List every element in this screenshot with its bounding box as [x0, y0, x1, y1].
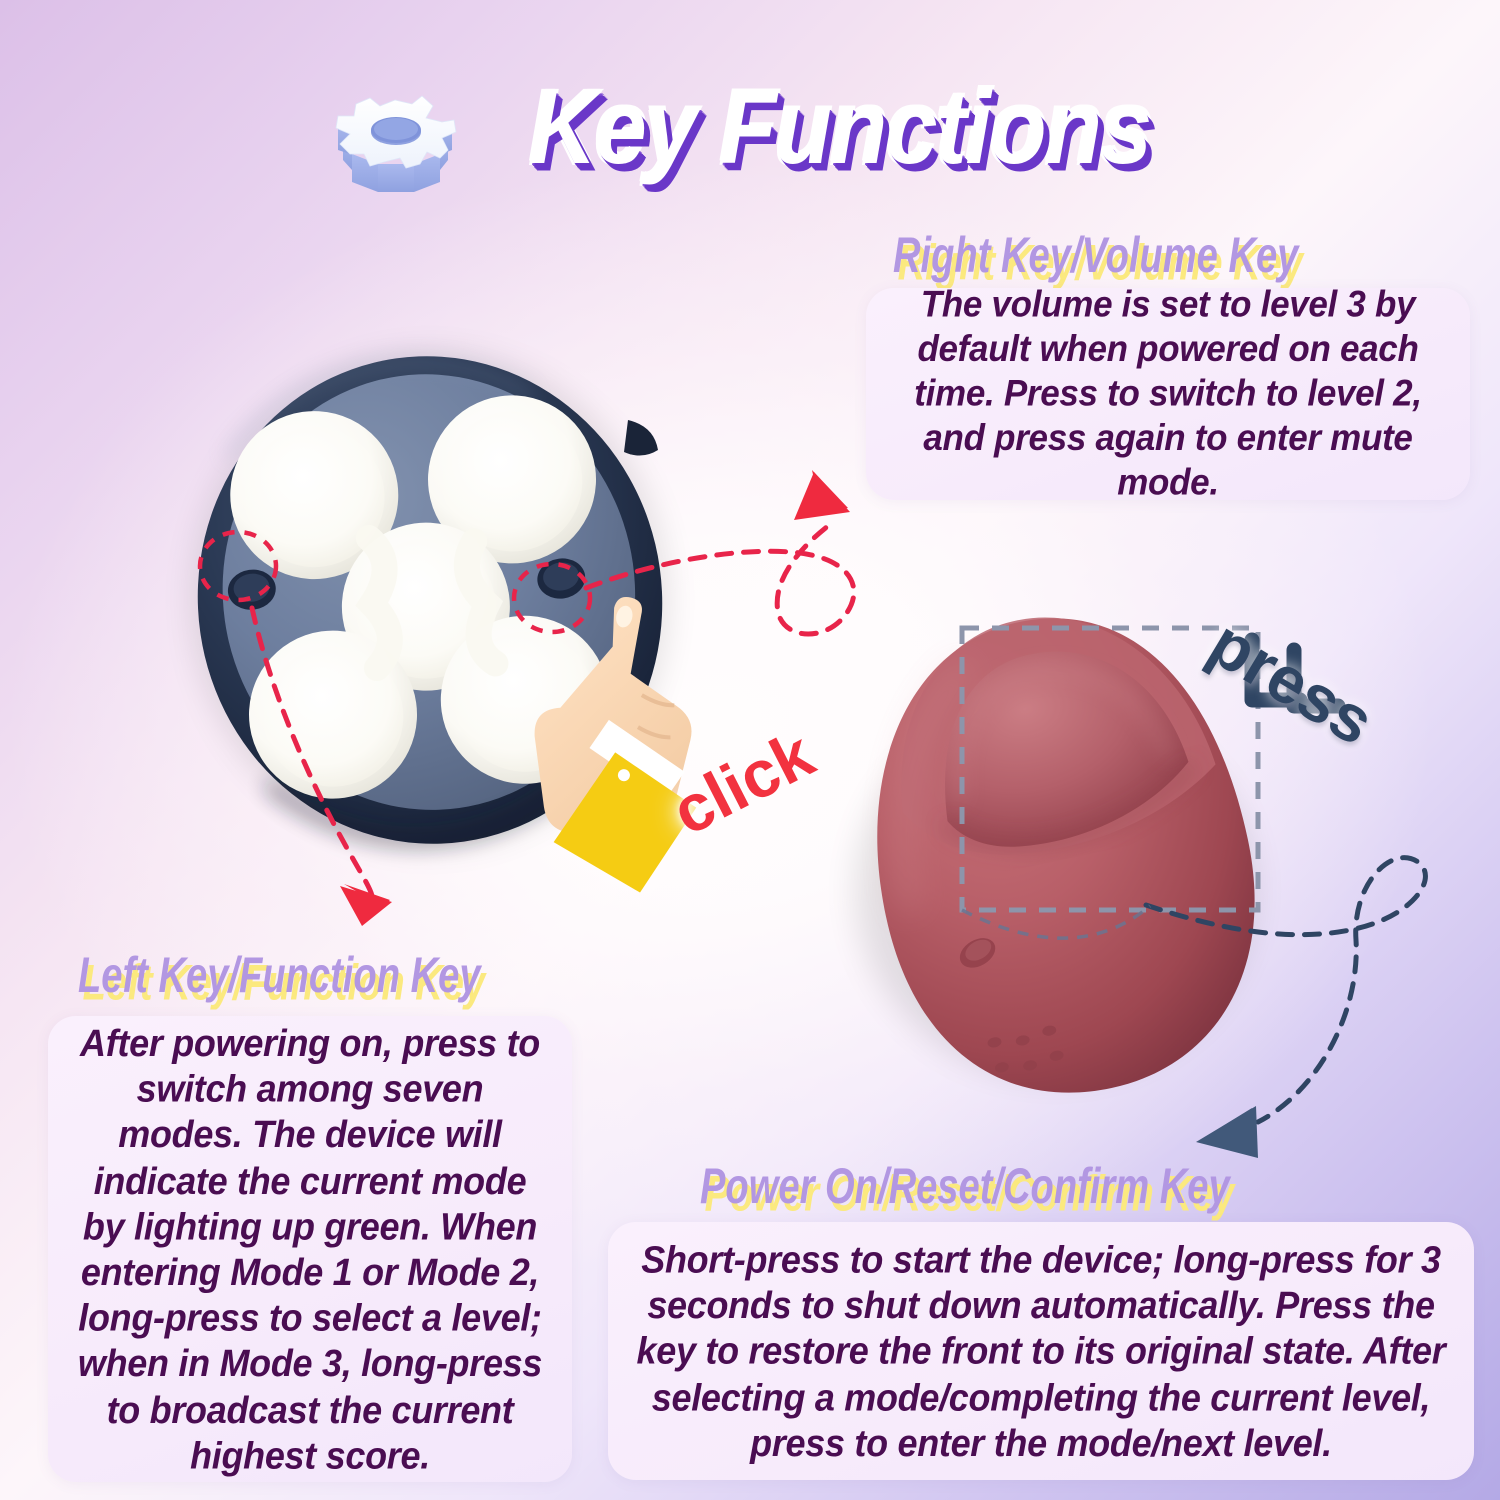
section-heading-right-key: Right Key/Volume Key [893, 227, 1298, 284]
description-text-left-key: After powering on, press to switch among… [74, 1020, 546, 1478]
gear-icon-slot [349, 78, 499, 188]
section-heading-left-key: Left Key/Function Key [78, 947, 481, 1004]
page-title: Key Functions [529, 67, 1150, 187]
description-card-power-key: Short-press to start the device; long-pr… [608, 1222, 1474, 1480]
page-header: Key Functions [0, 62, 1500, 192]
description-card-left-key: After powering on, press to switch among… [48, 1016, 572, 1482]
description-text-right-key: The volume is set to level 3 by default … [892, 283, 1444, 506]
description-text-power-key: Short-press to start the device; long-pr… [634, 1237, 1448, 1466]
section-heading-power-key: Power On/Reset/Confirm Key [700, 1158, 1230, 1215]
description-card-right-key: The volume is set to level 3 by default … [866, 288, 1470, 500]
